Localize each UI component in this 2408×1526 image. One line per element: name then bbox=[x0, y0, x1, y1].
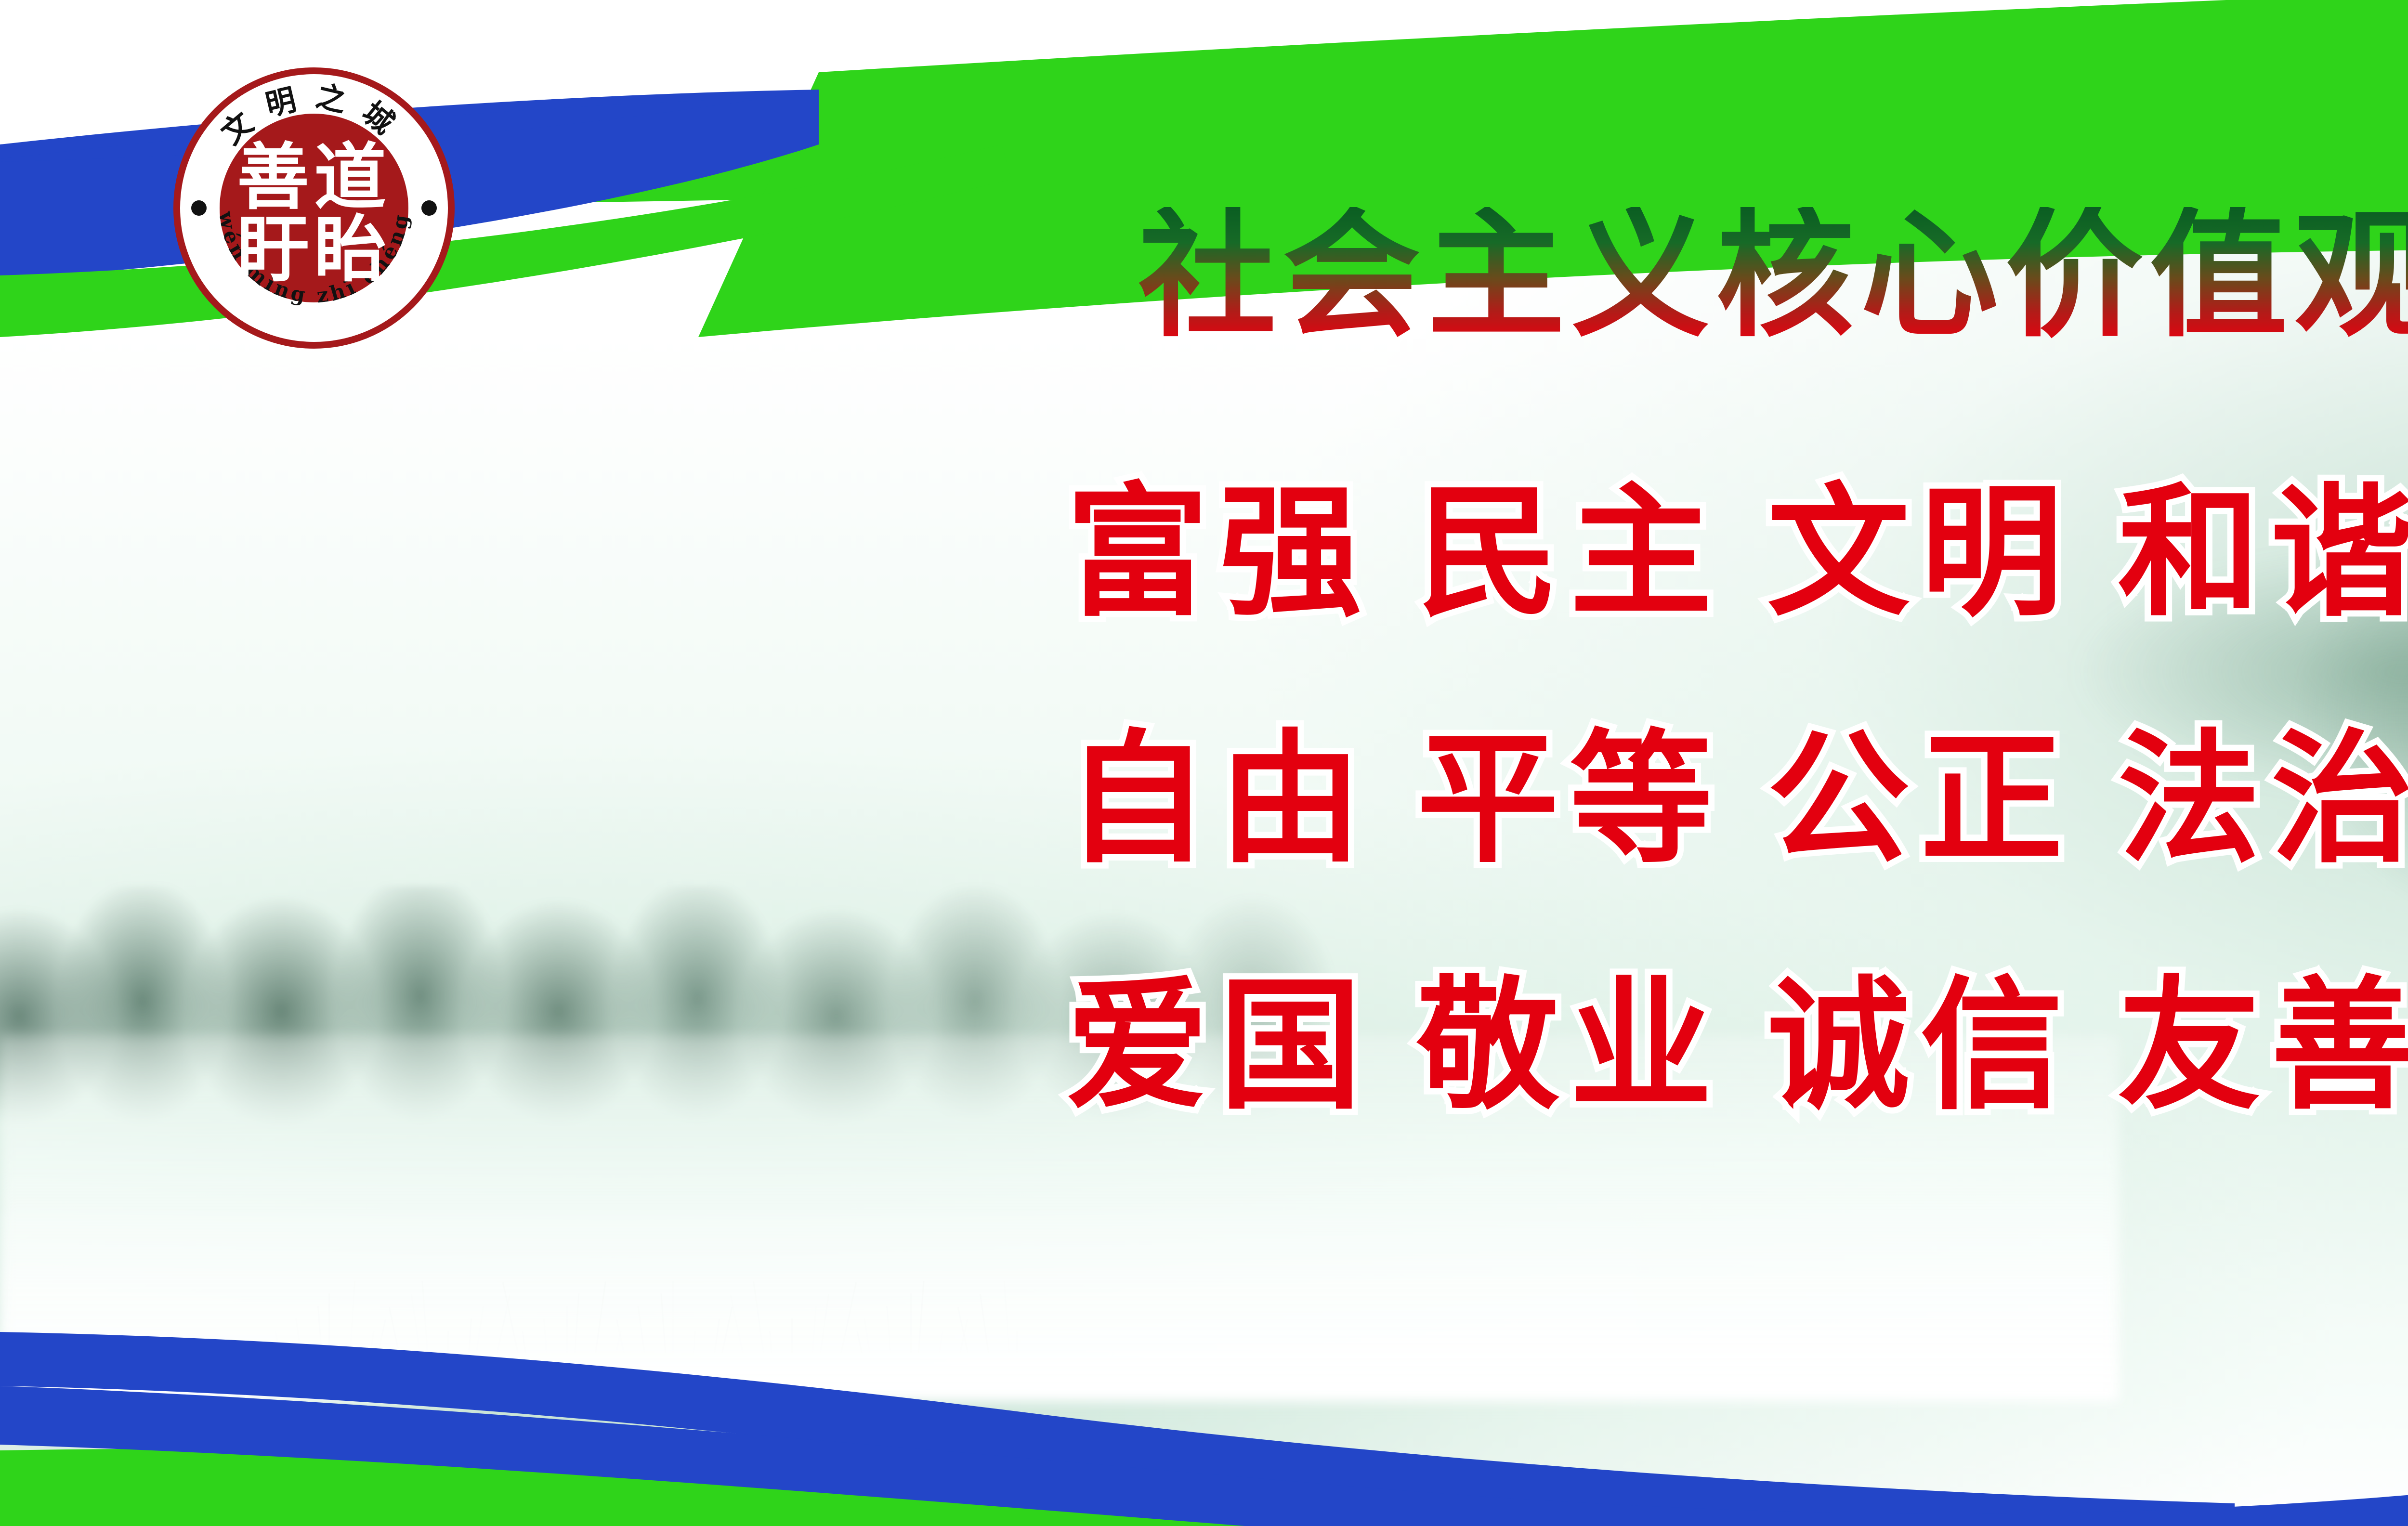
value-word: 友善 bbox=[2118, 975, 2408, 1117]
propaganda-board: 文明之城 wén míng zhī chéng 善道 盱眙 社会主义核心价值观 … bbox=[0, 0, 2408, 1526]
value-word: 富强 bbox=[1066, 482, 1373, 624]
page-title: 社会主义核心价值观 bbox=[0, 207, 2408, 345]
value-word: 和谐 bbox=[2118, 482, 2408, 624]
value-word: 文明 bbox=[1767, 482, 2074, 624]
value-row-2: 自由平等公正法治 bbox=[77, 728, 2408, 871]
value-word: 诚信 bbox=[1767, 975, 2074, 1117]
value-row-1: 富强民主文明和谐 bbox=[77, 482, 2408, 624]
value-word: 法治 bbox=[2118, 728, 2408, 871]
value-word: 爱国 bbox=[1066, 975, 1373, 1117]
value-word: 民主 bbox=[1417, 482, 1723, 624]
value-word: 敬业 bbox=[1417, 975, 1723, 1117]
core-values-block: 富强民主文明和谐 自由平等公正法治 爱国敬业诚信友善 bbox=[0, 482, 2408, 1221]
value-word: 平等 bbox=[1417, 728, 1723, 871]
value-row-3: 爱国敬业诚信友善 bbox=[77, 975, 2408, 1117]
value-word: 公正 bbox=[1767, 728, 2074, 871]
value-word: 自由 bbox=[1066, 728, 1373, 871]
